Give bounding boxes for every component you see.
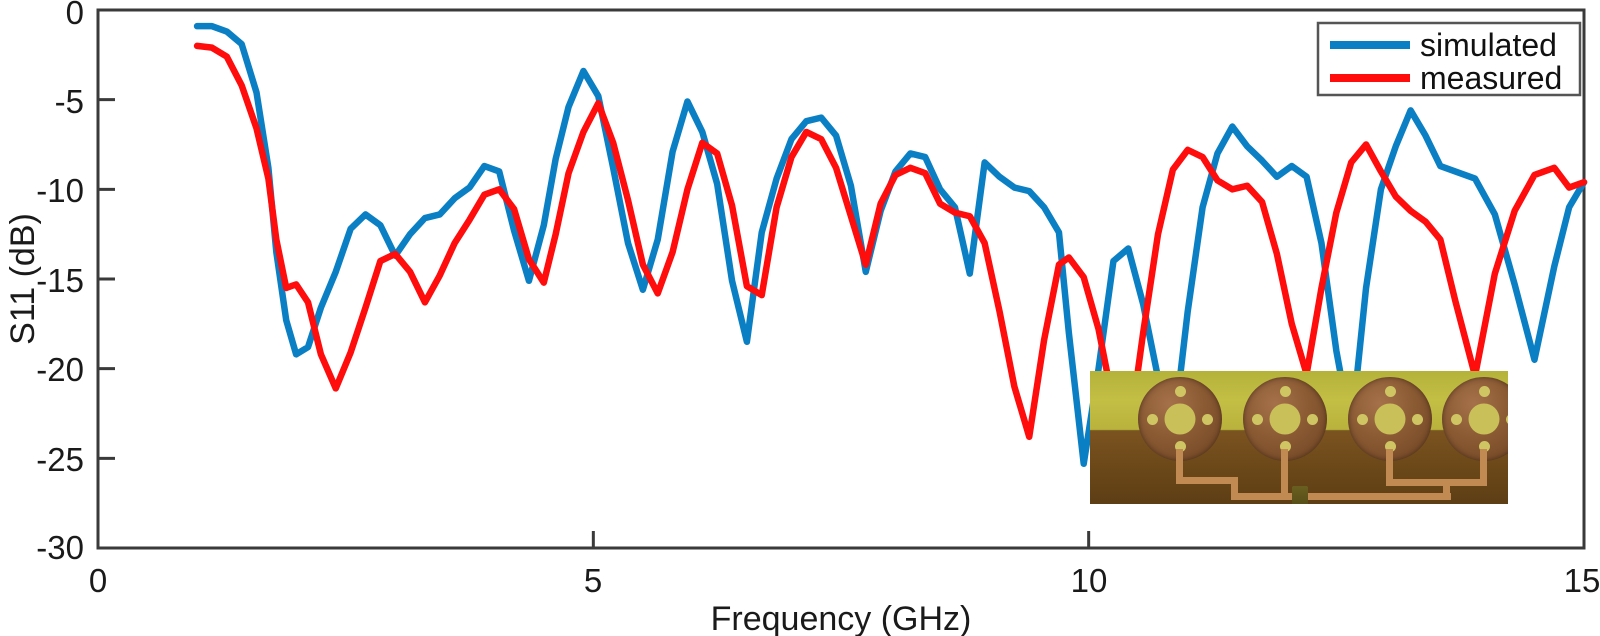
patch-slot-north: [1280, 386, 1291, 397]
patch-slot-north: [1175, 386, 1186, 397]
s11-plot-figure: 0 -5 -10 -15 -20 -25 -30 0 5 10 15 Frequ…: [0, 0, 1600, 636]
feed-line-3: [1386, 479, 1450, 486]
feed-stub-3: [1386, 449, 1393, 483]
patch-slot-north: [1479, 386, 1490, 397]
feed-line-4: [1450, 479, 1487, 486]
x-axis-ticks: [593, 531, 1088, 548]
patch-slot-west: [1451, 414, 1462, 425]
y-tick-label-0: 0: [66, 0, 84, 31]
x-tick-label-3: 15: [1564, 562, 1600, 599]
feed-line-1: [1176, 477, 1238, 484]
y-tick-label-3: -15: [36, 262, 84, 299]
patch-center-hole: [1165, 404, 1196, 435]
patch-center-hole: [1270, 404, 1301, 435]
patch-slot-east: [1412, 414, 1423, 425]
sma-connector: [1292, 486, 1308, 504]
feed-line-junction-right: [1303, 493, 1451, 500]
patch-slot-west: [1357, 414, 1368, 425]
y-tick-label-6: -30: [36, 529, 84, 566]
patch-slot-west: [1252, 414, 1263, 425]
x-tick-label-2: 10: [1071, 562, 1108, 599]
legend-label-simulated: simulated: [1420, 27, 1557, 63]
patch-center-hole: [1469, 404, 1500, 435]
chart-canvas: 0 -5 -10 -15 -20 -25 -30 0 5 10 15 Frequ…: [0, 0, 1600, 636]
y-axis-ticks: [98, 100, 115, 459]
patch-slot-west: [1147, 414, 1158, 425]
x-tick-label-0: 0: [89, 562, 107, 599]
x-axis-title: Frequency (GHz): [711, 600, 972, 636]
patch-slot-east: [1506, 414, 1508, 425]
y-axis-title: S11 (dB): [4, 213, 42, 345]
y-tick-label-1: -5: [55, 83, 84, 120]
patch-slot-east: [1307, 414, 1318, 425]
patch-center-hole: [1375, 404, 1406, 435]
chart-legend: simulated measured: [1318, 23, 1580, 96]
y-tick-label-2: -10: [36, 172, 84, 209]
patch-slot-east: [1202, 414, 1213, 425]
patch-slot-north: [1385, 386, 1396, 397]
antenna-array-photo-inset: [1090, 371, 1508, 504]
x-tick-label-1: 5: [584, 562, 602, 599]
feed-stub-2: [1281, 449, 1288, 497]
y-tick-label-5: -25: [36, 441, 84, 478]
legend-label-measured: measured: [1420, 60, 1562, 96]
y-tick-label-4: -20: [36, 351, 84, 388]
